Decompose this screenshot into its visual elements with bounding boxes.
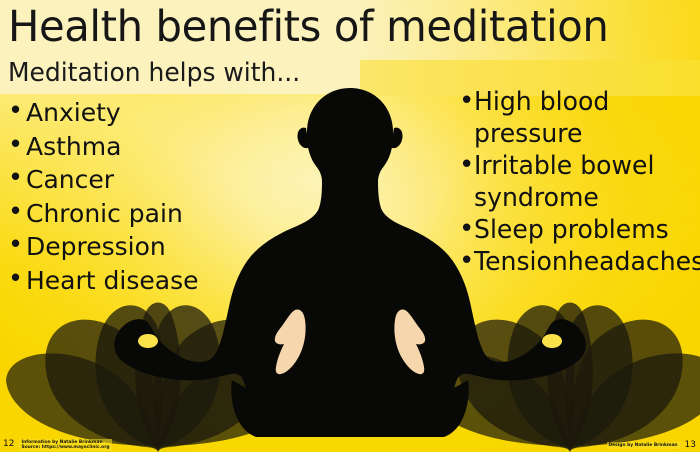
credit-left-line2: Source: https://www.mayoclinic.org bbox=[21, 445, 109, 450]
credit-right: Design by Natalie Brinkman 13 bbox=[607, 440, 698, 451]
list-item: Sleep problems bbox=[459, 214, 700, 246]
list-item: High blood pressure bbox=[459, 86, 700, 150]
credit-right-line1: Design by Natalie Brinkman bbox=[609, 443, 678, 448]
list-item: Depression bbox=[8, 230, 248, 264]
benefits-list-left: Anxiety Asthma Cancer Chronic pain Depre… bbox=[8, 96, 248, 297]
list-item: Cancer bbox=[8, 163, 248, 197]
page-number-left: 12 bbox=[1, 439, 16, 450]
page-subtitle: Meditation helps with... bbox=[8, 56, 300, 90]
slide-canvas: Health benefits of meditation Meditation… bbox=[0, 0, 700, 452]
list-item: Anxiety bbox=[8, 96, 248, 130]
credit-left: 12 Information by Natalie Brinkman Sourc… bbox=[1, 439, 112, 451]
benefits-list-right: High blood pressure Irritable bowel synd… bbox=[459, 86, 700, 278]
page-number-right: 13 bbox=[683, 440, 698, 451]
credit-left-box: Information by Natalie Brinkman Source: … bbox=[19, 439, 111, 451]
list-item: Irritable bowel syndrome bbox=[459, 150, 700, 214]
list-item: Tensionheadaches bbox=[459, 246, 700, 278]
page-title: Health benefits of meditation bbox=[8, 0, 608, 56]
credit-right-box: Design by Natalie Brinkman bbox=[607, 442, 680, 449]
list-item: Heart disease bbox=[8, 264, 248, 298]
list-item: Chronic pain bbox=[8, 197, 248, 231]
list-item: Asthma bbox=[8, 130, 248, 164]
